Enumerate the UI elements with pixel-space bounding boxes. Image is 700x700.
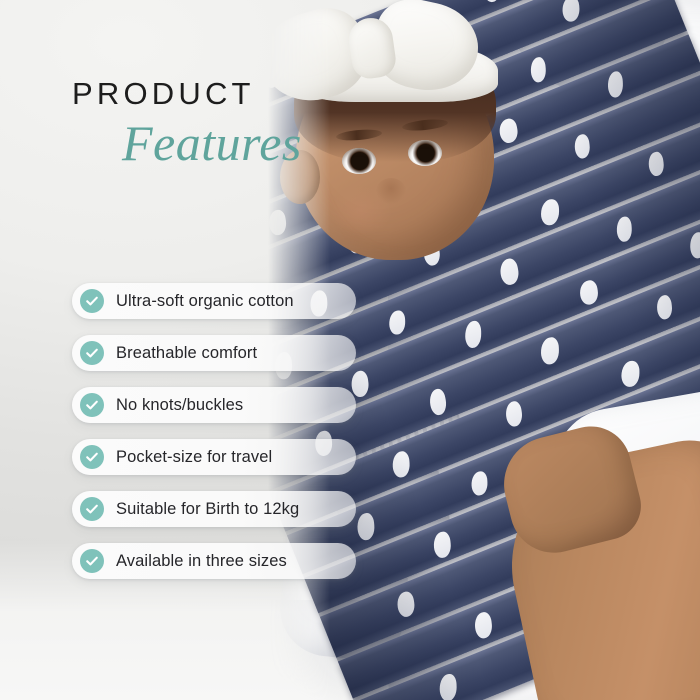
check-circle-icon [80, 445, 104, 469]
check-circle-icon [80, 393, 104, 417]
check-circle-icon [80, 497, 104, 521]
check-circle-icon [80, 341, 104, 365]
feature-pill: Suitable for Birth to 12kg [72, 491, 356, 527]
product-feature-graphic: PRODUCT Features Ultra-soft organic cott… [0, 0, 700, 700]
page-title-product: PRODUCT [72, 78, 255, 109]
feature-label: Suitable for Birth to 12kg [116, 500, 299, 519]
feature-label: Ultra-soft organic cotton [116, 292, 294, 311]
page-title-features: Features [122, 118, 302, 168]
feature-pill: Ultra-soft organic cotton [72, 283, 356, 319]
feature-pill: Breathable comfort [72, 335, 356, 371]
feature-pill: Pocket-size for travel [72, 439, 356, 475]
baby-nose [376, 178, 406, 204]
check-circle-icon [80, 549, 104, 573]
check-circle-icon [80, 289, 104, 313]
baby-eye-left [342, 148, 376, 174]
feature-pill: No knots/buckles [72, 387, 356, 423]
feature-label: Pocket-size for travel [116, 448, 272, 467]
feature-label: Breathable comfort [116, 344, 257, 363]
feature-list: Ultra-soft organic cotton Breathable com… [72, 283, 372, 595]
feature-label: No knots/buckles [116, 396, 243, 415]
feature-pill: Available in three sizes [72, 543, 356, 579]
baby-eye-right [408, 140, 442, 166]
feature-label: Available in three sizes [116, 552, 287, 571]
